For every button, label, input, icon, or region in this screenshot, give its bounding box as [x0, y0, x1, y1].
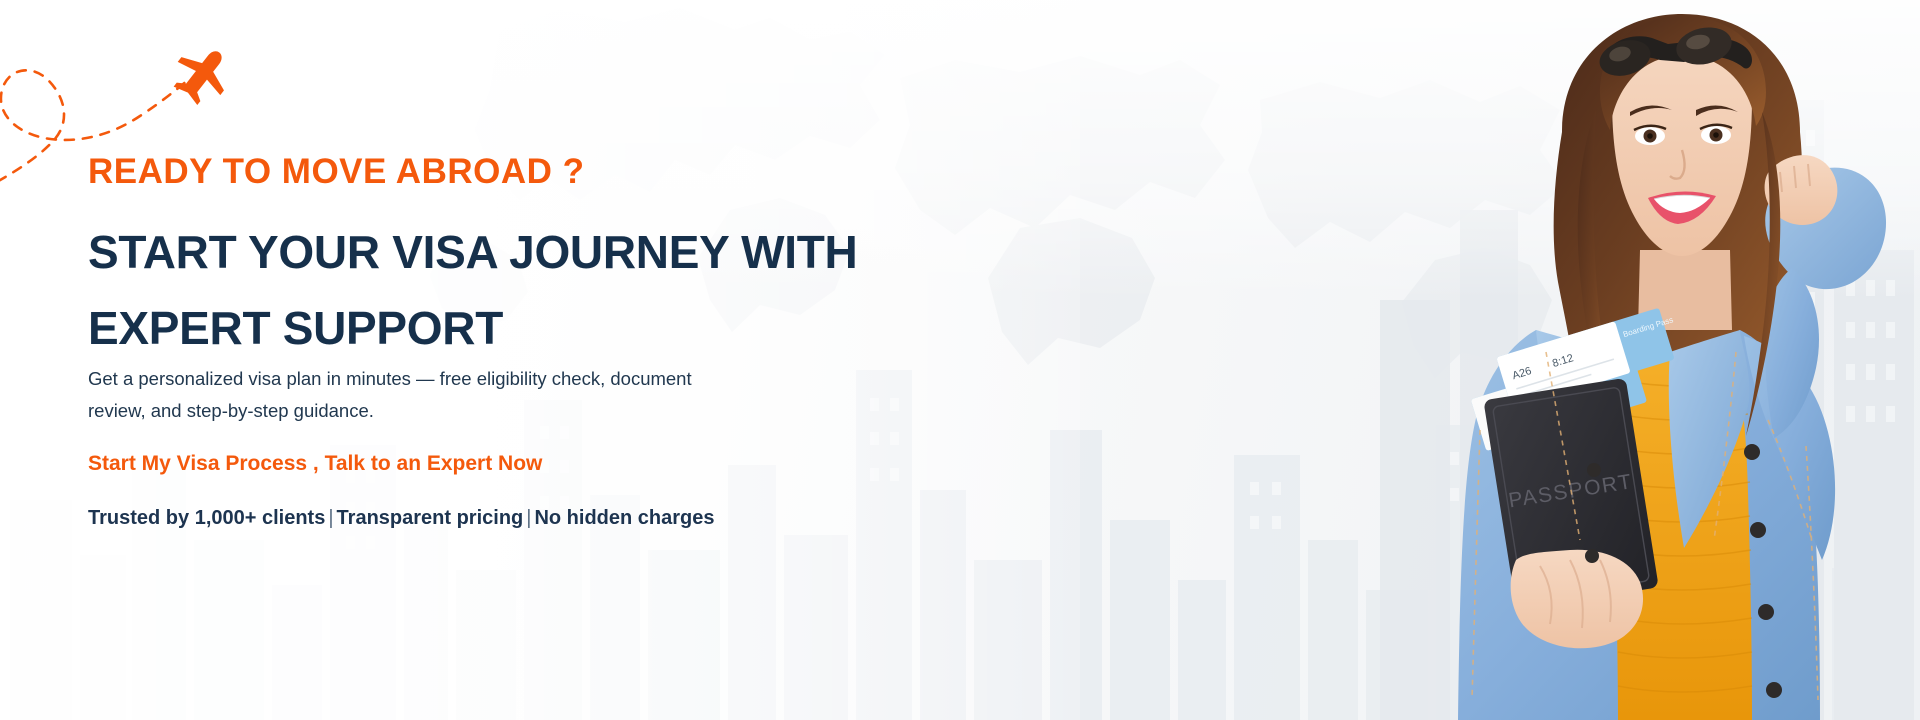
- trust-separator-1: |: [325, 507, 336, 529]
- woman-with-passport-photo: A26 8:12 Boarding Pass A26 8:12 Boarding…: [1300, 0, 1920, 720]
- hero-content: READY TO MOVE ABROAD ? START YOUR VISA J…: [88, 0, 988, 720]
- cta-row: Start My Visa Process , Talk to an Exper…: [88, 452, 542, 476]
- subcopy-text: Get a personalized visa plan in minutes …: [88, 363, 738, 427]
- page-title: START YOUR VISA JOURNEY WITH EXPERT SUPP…: [88, 214, 948, 366]
- hero-banner: A26 8:12 Boarding Pass A26 8:12 Boarding…: [0, 0, 1920, 720]
- trust-item-clients: Trusted by 1,000+ clients: [88, 507, 325, 529]
- subcopy-line-2: review, and step-by-step guidance.: [88, 395, 738, 427]
- start-visa-process-link[interactable]: Start My Visa Process , Talk to an Exper…: [88, 452, 542, 475]
- eyebrow-text: READY TO MOVE ABROAD ?: [88, 152, 585, 192]
- headline-line-1: START YOUR VISA JOURNEY WITH: [88, 214, 948, 290]
- headline-line-2: EXPERT SUPPORT: [88, 290, 948, 366]
- trust-separator-2: |: [523, 507, 534, 529]
- trust-line: Trusted by 1,000+ clients|Transparent pr…: [88, 507, 715, 530]
- trust-item-pricing: Transparent pricing: [337, 507, 524, 529]
- trust-item-charges: No hidden charges: [534, 507, 714, 529]
- subcopy-line-1: Get a personalized visa plan in minutes …: [88, 363, 738, 395]
